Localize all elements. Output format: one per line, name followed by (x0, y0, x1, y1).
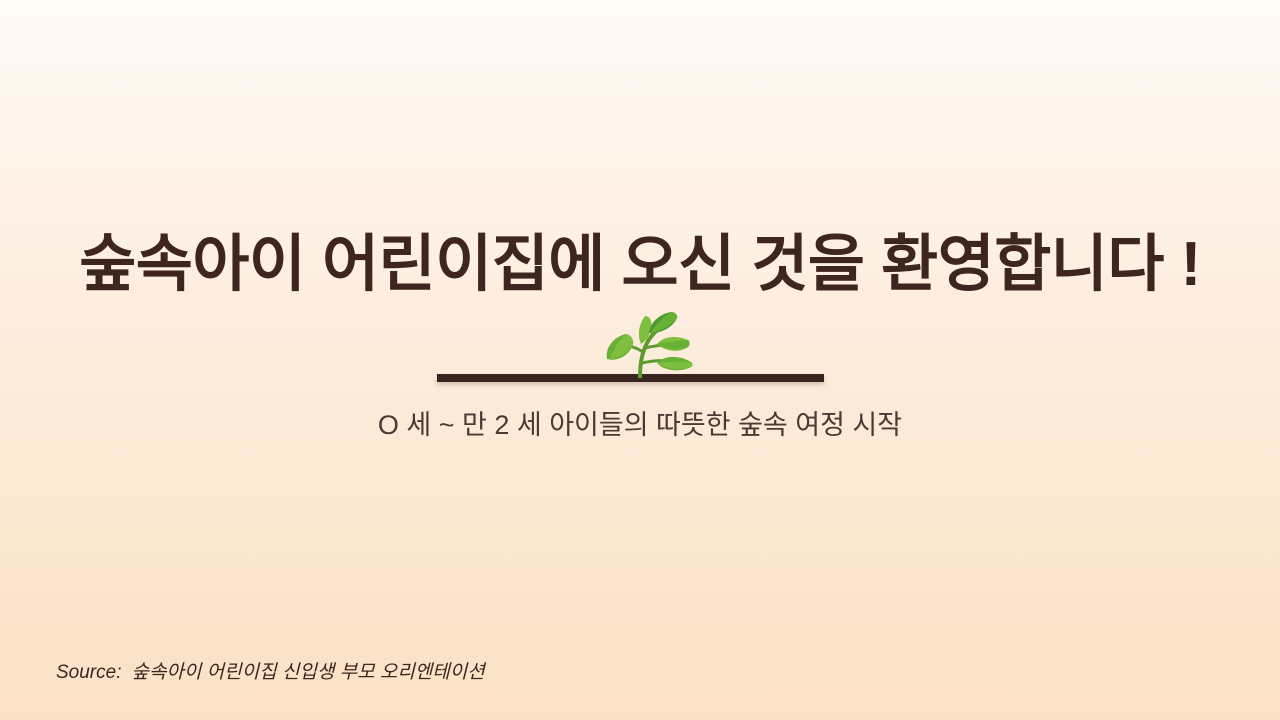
source-value: 숲속아이 어린이집 신입생 부모 오리엔테이션 (131, 657, 484, 684)
subtitle-block: O 세 ~ 만 2 세 아이들의 따뜻한 숲속 여정 시작 (0, 407, 1280, 443)
source-label: Source: (56, 662, 121, 684)
title-divider-group (430, 306, 850, 390)
page-subtitle: O 세 ~ 만 2 세 아이들의 따뜻한 숲속 여정 시작 (0, 407, 1280, 443)
leaf-sprig-icon (593, 306, 703, 378)
title-block: 숲속아이 어린이집에 오신 것을 환영합니다 ! (0, 228, 1280, 301)
page-title: 숲속아이 어린이집에 오신 것을 환영합니다 ! (0, 228, 1280, 301)
slide-canvas: 숲속아이 어린이집에 오신 것을 환영합니다 ! (0, 0, 1280, 720)
source-footnote: Source: 숲속아이 어린이집 신입생 부모 오리엔테이션 (56, 657, 485, 684)
